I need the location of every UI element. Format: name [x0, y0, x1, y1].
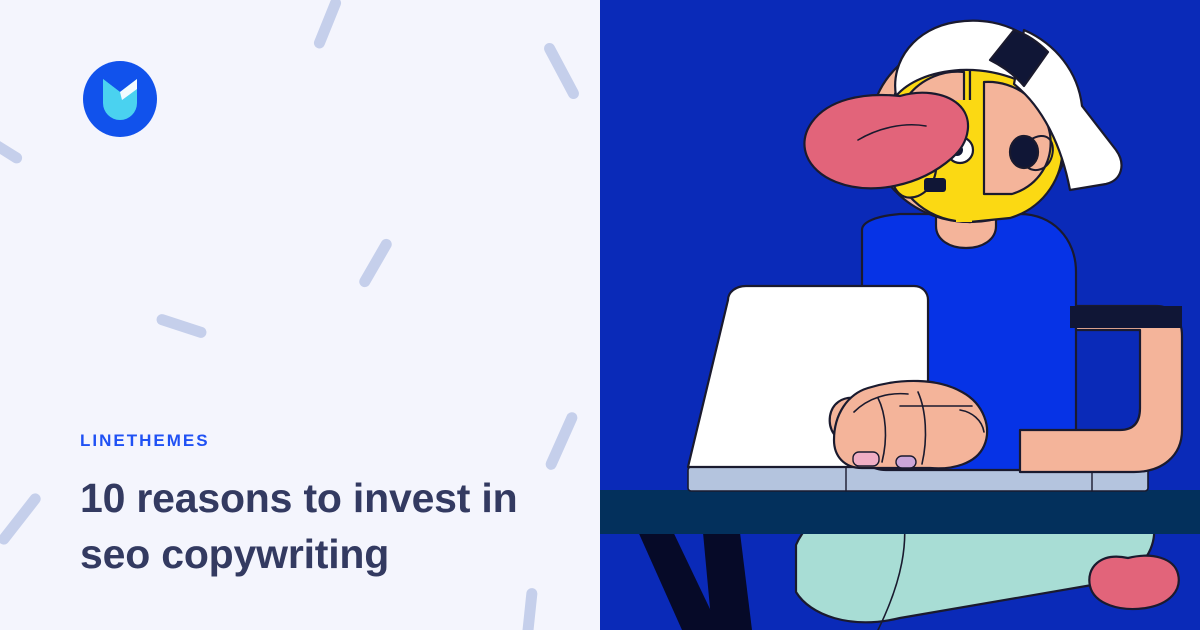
text-block: LINETHEMES 10 reasons to invest in seo c… [80, 432, 550, 583]
sleeve-band-navy-right [1070, 306, 1182, 328]
mouth-open [924, 178, 946, 192]
decorative-dash [155, 313, 208, 340]
decorative-dash [357, 237, 394, 289]
linethemes-logo-icon[interactable] [81, 59, 159, 139]
decorative-dash [0, 126, 24, 165]
fingernail-1 [853, 452, 879, 466]
blog-cover-card: LINETHEMES 10 reasons to invest in seo c… [0, 0, 1200, 630]
desk-top-navy [600, 490, 1200, 534]
fingernail-2 [896, 456, 916, 468]
person-typing-illustration [600, 0, 1200, 630]
decorative-dash [312, 0, 342, 50]
eye-far-right [1010, 136, 1038, 168]
decorative-dash [542, 41, 581, 101]
logo-svg [81, 59, 159, 139]
illustration-panel [600, 0, 1200, 630]
page-title: 10 reasons to invest in seo copywriting [80, 471, 550, 583]
decorative-dash [0, 491, 43, 547]
left-content-panel: LINETHEMES 10 reasons to invest in seo c… [0, 0, 600, 630]
shoe-pink [1089, 556, 1178, 609]
brand-name: LINETHEMES [80, 432, 550, 449]
decorative-dash [521, 588, 538, 630]
